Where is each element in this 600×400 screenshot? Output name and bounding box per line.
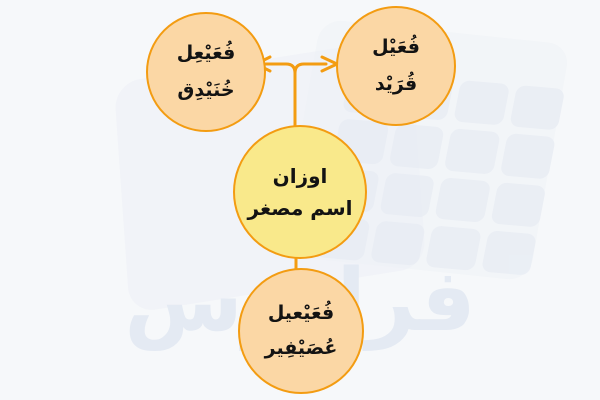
node-line-pattern: فُعَيْل [372, 38, 420, 58]
node-line-example: قُرَيْد [375, 75, 417, 95]
node-line-example: خُنَيْدِق [177, 81, 234, 101]
node-line-pattern: فُعَيْعِل [177, 44, 236, 64]
diagram-node-top-left[interactable]: فُعَيْعِل خُنَيْدِق [146, 12, 266, 132]
diagram-canvas: فرادرس فُعَيْعِل خُنَيْدِق فُعَيْل قُرَي… [0, 0, 600, 400]
center-line-primary: اوزان [273, 165, 328, 187]
center-line-secondary: اسم مصغر [248, 197, 353, 219]
diagram-node-top-right[interactable]: فُعَيْل قُرَيْد [336, 6, 456, 126]
diagram-node-center[interactable]: اوزان اسم مصغر [233, 125, 367, 259]
diagram-node-bottom[interactable]: فُعَيْعيل عُصَيْفِير [238, 268, 364, 394]
node-line-pattern: فُعَيْعيل [268, 304, 334, 324]
node-line-example: عُصَيْفِير [265, 339, 338, 359]
